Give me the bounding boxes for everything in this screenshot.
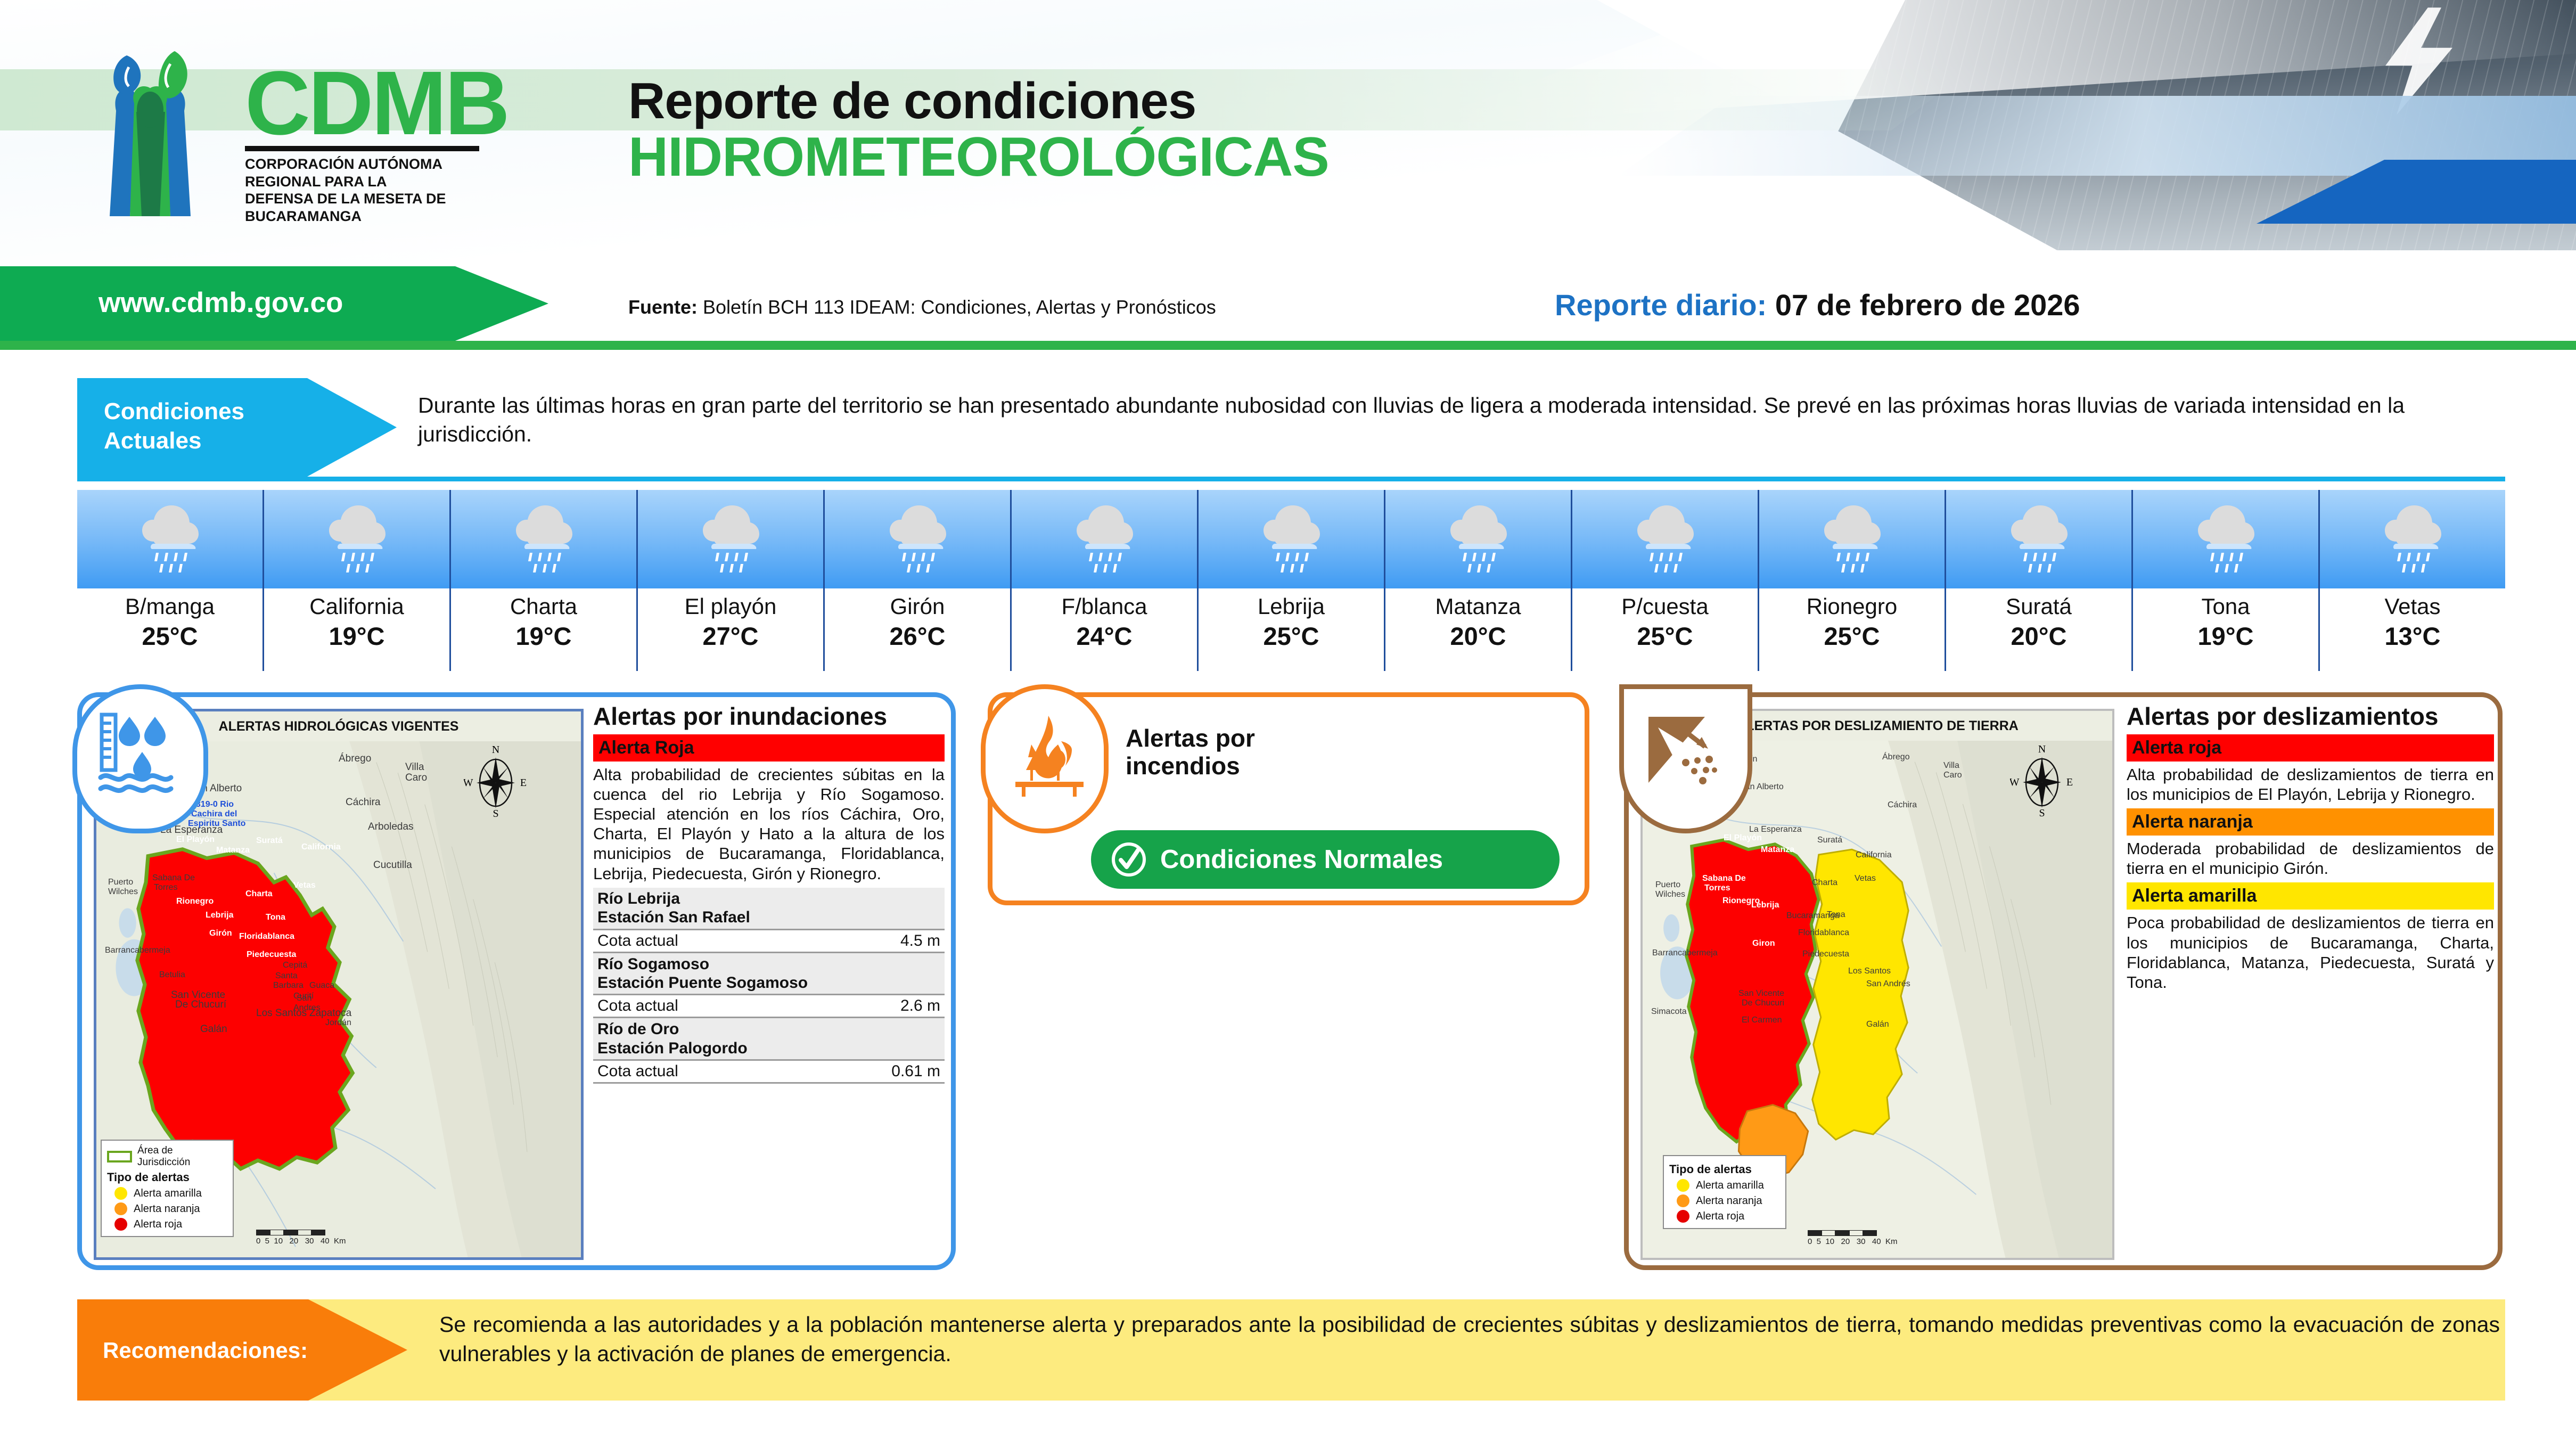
tag-line-2: Actuales <box>104 427 244 456</box>
map-town-label: Ábrego <box>1882 752 1910 762</box>
landslide-map-legend: Tipo de alertas Alerta amarilla Alerta n… <box>1663 1155 1786 1229</box>
source-note: Fuente: Boletín BCH 113 IDEAM: Condicion… <box>628 296 1216 318</box>
map-river-label: Espiritu Santo <box>188 819 245 829</box>
weather-municipality: F/blanca <box>1012 594 1197 619</box>
weather-temperature: 13°C <box>2320 621 2505 651</box>
svg-text:N: N <box>492 744 499 756</box>
landslide-map-scalebar: 0 5 10 20 30 40 Km <box>1808 1230 1897 1246</box>
title-line-1: Reporte de condiciones <box>628 75 1329 128</box>
current-conditions-underline <box>77 477 2505 481</box>
river-metric-value: 4.5 m <box>807 929 945 952</box>
weather-temperature: 24°C <box>1012 621 1197 651</box>
jurisdiction-swatch-icon <box>107 1151 132 1163</box>
river-station-cell: Río SogamosoEstación Puente Sogamoso <box>593 952 945 995</box>
map-town-label: Simacota <box>1651 1007 1687 1017</box>
report-page: CDMB CORPORACIÓN AUTÓNOMA REGIONAL PARA … <box>0 0 2576 1449</box>
map-town-label: Barrancabermeja <box>105 946 170 955</box>
map-town-label: California <box>301 842 341 852</box>
weather-temperature: 19°C <box>451 621 636 651</box>
table-row: Cota actual4.5 m <box>593 929 945 952</box>
weather-icon-box <box>1946 490 2131 588</box>
compass-rose-icon: N S E W <box>2010 744 2074 818</box>
fire-panel-heading: Alertas por incendios <box>1126 725 1255 780</box>
weather-cell: B/manga25°C <box>77 490 264 671</box>
hydro-map-scalebar: 0 5 10 20 30 40 Km <box>256 1230 346 1246</box>
scalebar-ticks: 0 5 10 20 30 40 Km <box>1808 1237 1897 1246</box>
svg-text:W: W <box>464 777 473 789</box>
weather-municipality: Rionegro <box>1759 594 1945 619</box>
weather-cell: Matanza20°C <box>1385 490 1572 671</box>
map-town-label: Suratá <box>256 836 283 846</box>
weather-municipality: California <box>264 594 449 619</box>
forest-fire-icon <box>1013 715 1086 804</box>
legend-area-label: Área de Jurisdicción <box>137 1145 226 1168</box>
legend-item-label: Alerta amarilla <box>1696 1180 1764 1192</box>
map-town-label: El Playón <box>176 835 215 845</box>
landslide-alert-text: Alta probabilidad de deslizamientos de t… <box>2127 765 2494 804</box>
map-town-label: Santa <box>275 971 298 981</box>
legend-swatch-yellow-icon <box>1677 1179 1689 1192</box>
table-row: Río de OroEstación Palogordo <box>593 1018 945 1060</box>
weather-municipality: El playón <box>638 594 823 619</box>
weather-cell: Suratá20°C <box>1946 490 2133 671</box>
rain-cloud-icon <box>138 502 202 577</box>
map-town-label: Wilches <box>1655 890 1685 899</box>
map-town-label: Piedecuesta <box>1802 949 1849 959</box>
rain-cloud-icon <box>1072 502 1136 577</box>
logo-subtitle-line1: CORPORACIÓN AUTÓNOMA REGIONAL PARA LA <box>245 155 495 191</box>
river-station-cell: Río LebrijaEstación San Rafael <box>593 888 945 929</box>
river-metric-label: Cota actual <box>593 1060 807 1083</box>
map-town-label: Caro <box>405 772 427 784</box>
landslide-alert-band: Alerta roja <box>2127 734 2494 762</box>
map-town-label: Los Santos <box>1848 967 1891 976</box>
map-town-label: Sabana De <box>1702 874 1746 883</box>
map-town-label: Betulia <box>159 970 185 980</box>
cdmb-logo[interactable]: CDMB CORPORACIÓN AUTÓNOMA REGIONAL PARA … <box>85 48 618 224</box>
fire-alert-card: Alertas por incendios Condiciones Normal… <box>988 692 1589 905</box>
fire-heading-line-1: Alertas por <box>1126 725 1255 752</box>
legend-item: Alerta naranja <box>107 1202 226 1215</box>
weather-temperature: 26°C <box>825 621 1010 651</box>
legend-item: Alerta amarilla <box>107 1187 226 1200</box>
map-town-label: San Vicente <box>1738 989 1784 998</box>
report-date-line: Reporte diario: 07 de febrero de 2026 <box>1555 288 2080 322</box>
weather-cell: California19°C <box>264 490 451 671</box>
legend-swatch-red-icon <box>1677 1210 1689 1223</box>
weather-municipality: Vetas <box>2320 594 2505 619</box>
weather-cell: Vetas13°C <box>2320 490 2505 671</box>
title-line-2: HIDROMETEOROLÓGICAS <box>628 128 1329 186</box>
website-url[interactable]: www.cdmb.gov.co <box>99 286 343 319</box>
source-text: Boletín BCH 113 IDEAM: Condiciones, Aler… <box>703 296 1216 318</box>
weather-icon-box <box>1385 490 1571 588</box>
map-town-label: Ábrego <box>339 753 371 765</box>
fire-heading-line-2: incendios <box>1126 752 1255 780</box>
flood-badge <box>72 684 208 833</box>
svg-text:E: E <box>520 777 527 789</box>
weather-municipality: Girón <box>825 594 1010 619</box>
legend-item-label: Alerta naranja <box>1696 1195 1762 1207</box>
current-conditions-tag: Condiciones Actuales <box>77 378 397 477</box>
current-conditions-tag-text: Condiciones Actuales <box>104 397 244 455</box>
map-town-label: Caro <box>1943 771 1962 780</box>
weather-municipality: Suratá <box>1946 594 2131 619</box>
source-label: Fuente: <box>628 296 698 318</box>
map-town-label: Barbara <box>273 981 303 990</box>
weather-strip: B/manga25°C California19°C Charta19°C El… <box>77 490 2505 671</box>
map-town-label: El Playón <box>1724 833 1762 843</box>
map-river-label: Cachira del <box>191 809 237 819</box>
legend-item: Alerta naranja <box>1669 1194 1779 1207</box>
weather-municipality: Charta <box>451 594 636 619</box>
legend-item: Alerta roja <box>1669 1210 1779 1223</box>
map-town-label: Sabana De <box>152 873 195 883</box>
map-town-label: Torres <box>1704 883 1730 893</box>
river-metric-value: 0.61 m <box>807 1060 945 1083</box>
report-date-value: 07 de febrero de 2026 <box>1775 288 2080 322</box>
map-town-label: Villa <box>1943 761 1959 771</box>
weather-municipality: P/cuesta <box>1572 594 1758 619</box>
map-town-label: De Chucuri <box>1742 998 1784 1008</box>
weather-icon-box <box>1012 490 1197 588</box>
alert-panels-row: ALERTAS HIDROLÓGICAS VIGENTES <box>0 687 2576 1278</box>
rain-cloud-icon <box>512 502 576 577</box>
water-level-gauge-icon <box>97 711 175 799</box>
map-town-label: Galán <box>1866 1020 1889 1029</box>
map-town-label: Andres <box>293 1003 321 1013</box>
rain-cloud-icon <box>699 502 762 577</box>
map-town-label: Floridablanca <box>239 932 294 942</box>
current-conditions-section: Condiciones Actuales Durante las últimas… <box>77 378 2505 477</box>
weather-icon-box <box>2133 490 2318 588</box>
map-town-label: Piedecuesta <box>247 950 296 960</box>
rain-cloud-icon <box>1633 502 1697 577</box>
weather-cell: F/blanca24°C <box>1012 490 1199 671</box>
flood-panel-heading: Alertas por inundaciones <box>593 703 945 730</box>
hydro-map-legend: Área de Jurisdicción Tipo de alertas Ale… <box>101 1140 234 1237</box>
river-levels-table: Río LebrijaEstación San RafaelCota actua… <box>593 888 945 1084</box>
legend-area-row: Área de Jurisdicción <box>107 1145 226 1168</box>
weather-municipality: Lebrija <box>1199 594 1384 619</box>
rain-cloud-icon <box>1259 502 1323 577</box>
map-town-label: Matanza <box>216 846 250 855</box>
weather-cell: P/cuesta25°C <box>1572 490 1759 671</box>
weather-icon-box <box>1759 490 1945 588</box>
landslide-alert-card: ALERTAS POR DESLIZAMIENTO DE TIERRA <box>1624 692 2503 1270</box>
landslide-alert-list: Alerta rojaAlta probabilidad de deslizam… <box>2127 734 2494 993</box>
svg-text:S: S <box>493 808 498 819</box>
weather-temperature: 25°C <box>1572 621 1758 651</box>
weather-cell: Charta19°C <box>451 490 638 671</box>
legend-item-label: Alerta naranja <box>134 1203 200 1215</box>
legend-swatch-red-icon <box>114 1218 127 1231</box>
recommendations-text: Se recomienda a las autoridades y a la p… <box>439 1310 2500 1369</box>
landslide-alert-text: Moderada probabilidad de deslizamientos … <box>2127 839 2494 878</box>
map-town-label: Wilches <box>108 887 138 897</box>
map-town-label: San Andrés <box>1866 979 1910 989</box>
flood-alert-text: Alta probabilidad de crecientes súbitas … <box>593 765 945 883</box>
map-town-label: Barrancabermeja <box>1652 948 1718 958</box>
map-town-label: Charta <box>245 889 273 899</box>
legend-item-label: Alerta roja <box>134 1218 182 1231</box>
green-rule <box>0 341 2576 350</box>
weather-temperature: 25°C <box>1199 621 1384 651</box>
map-town-label: San <box>297 994 311 1003</box>
logo-name: CDMB <box>245 64 508 144</box>
flood-alert-info: Alertas por inundaciones Alerta Roja Alt… <box>593 703 945 1084</box>
logo-subtitle: CORPORACIÓN AUTÓNOMA REGIONAL PARA LA DE… <box>245 155 495 226</box>
table-row: Cota actual0.61 m <box>593 1060 945 1083</box>
weather-temperature: 20°C <box>1385 621 1571 651</box>
map-town-label: Galán <box>200 1024 227 1035</box>
weather-cell: El playón27°C <box>638 490 825 671</box>
map-town-label: Rionegro <box>176 897 214 906</box>
weather-municipality: B/manga <box>77 594 262 619</box>
fire-badge <box>981 684 1109 833</box>
weather-temperature: 20°C <box>1946 621 2131 651</box>
legend-item: Alerta amarilla <box>1669 1179 1779 1192</box>
map-town-label: Cáchira <box>1888 800 1917 810</box>
weather-temperature: 19°C <box>2133 621 2318 651</box>
fire-status-pill: Condiciones Normales <box>1091 830 1560 889</box>
landslide-badge <box>1619 684 1752 833</box>
rain-cloud-icon <box>885 502 949 577</box>
legend-title: Tipo de alertas <box>107 1170 226 1184</box>
landslide-panel-heading: Alertas por deslizamientos <box>2127 703 2494 730</box>
svg-text:N: N <box>2038 744 2046 755</box>
flood-alert-band: Alerta Roja <box>593 734 945 762</box>
map-town-label: El Carmen <box>1742 1016 1782 1025</box>
logo-wordmark: CDMB CORPORACIÓN AUTÓNOMA REGIONAL PARA … <box>245 64 508 225</box>
table-row: Cota actual2.6 m <box>593 995 945 1018</box>
rain-cloud-icon <box>1446 502 1510 577</box>
map-town-label: Jordán <box>325 1018 351 1028</box>
map-town-label: Vetas <box>1855 874 1876 883</box>
map-town-label: Charta <box>1812 878 1837 888</box>
table-row: Río SogamosoEstación Puente Sogamoso <box>593 952 945 995</box>
rain-cloud-icon <box>1820 502 1884 577</box>
map-town-label: Arboledas <box>368 821 414 833</box>
scalebar-segments <box>1808 1230 1897 1236</box>
recommendations-tag-label: Recomendaciones: <box>103 1338 308 1363</box>
legend-item-label: Alerta amarilla <box>134 1188 202 1200</box>
map-town-label: Guaca <box>309 981 334 990</box>
weather-temperature: 19°C <box>264 621 449 651</box>
svg-text:E: E <box>2066 776 2073 788</box>
weather-cell: Lebrija25°C <box>1199 490 1385 671</box>
scalebar-segments <box>256 1230 346 1235</box>
logo-subtitle-line2: DEFENSA DE LA MESETA DE BUCARAMANGA <box>245 190 495 225</box>
rain-cloud-icon <box>325 502 389 577</box>
landslide-alert-band: Alerta amarilla <box>2127 882 2494 910</box>
weather-cell: Girón26°C <box>825 490 1012 671</box>
flood-alert-card: ALERTAS HIDROLÓGICAS VIGENTES <box>77 692 956 1270</box>
map-town-label: Cáchira <box>346 797 380 808</box>
landslide-alert-info: Alertas por deslizamientos Alerta rojaAl… <box>2127 703 2494 992</box>
rain-cloud-icon <box>2381 502 2444 577</box>
weather-icon-box <box>77 490 262 588</box>
map-town-label: California <box>1856 850 1892 860</box>
map-town-label: Puerto <box>1655 880 1680 890</box>
weather-icon-box <box>2320 490 2505 588</box>
weather-temperature: 25°C <box>77 621 262 651</box>
map-town-label: De Chucurí <box>175 999 226 1011</box>
map-town-label: Vetas <box>293 881 316 890</box>
map-town-label: Cucutilla <box>373 859 412 871</box>
legend-swatch-orange-icon <box>1677 1194 1689 1207</box>
report-date-label: Reporte diario: <box>1555 288 1767 322</box>
weather-temperature: 27°C <box>638 621 823 651</box>
map-town-label: Torres <box>154 883 177 893</box>
weather-temperature: 25°C <box>1759 621 1945 651</box>
landslide-alert-band: Alerta naranja <box>2127 808 2494 836</box>
legend-title: Tipo de alertas <box>1669 1163 1779 1176</box>
weather-icon-box <box>825 490 1010 588</box>
weather-municipality: Matanza <box>1385 594 1571 619</box>
map-town-label: Floridablanca <box>1798 928 1849 938</box>
river-metric-value: 2.6 m <box>807 995 945 1018</box>
landslide-alert-text: Poca probabilidad de deslizamientos de t… <box>2127 913 2494 992</box>
weather-cell: Rionegro25°C <box>1759 490 1946 671</box>
weather-icon-box <box>451 490 636 588</box>
map-town-label: Girón <box>209 929 232 938</box>
tag-line-1: Condiciones <box>104 397 244 427</box>
check-circle-icon <box>1109 840 1148 879</box>
river-station-cell: Río de OroEstación Palogordo <box>593 1018 945 1060</box>
svg-text:S: S <box>2039 807 2045 818</box>
map-town-label: Lebrija <box>206 911 233 920</box>
legend-swatch-orange-icon <box>114 1202 127 1215</box>
cdmb-logo-mark-icon <box>85 48 234 224</box>
map-town-label: Matanza <box>1761 845 1794 855</box>
weather-municipality: Tona <box>2133 594 2318 619</box>
page-header: CDMB CORPORACIÓN AUTÓNOMA REGIONAL PARA … <box>0 0 2576 266</box>
river-metric-label: Cota actual <box>593 929 807 952</box>
page-title: Reporte de condiciones HIDROMETEOROLÓGIC… <box>628 75 1329 186</box>
river-metric-label: Cota actual <box>593 995 807 1018</box>
legend-item-label: Alerta roja <box>1696 1210 1744 1223</box>
recommendations-section: Recomendaciones: Se recomienda a las aut… <box>77 1299 2505 1401</box>
rain-cloud-icon <box>2007 502 2071 577</box>
weather-icon-box <box>638 490 823 588</box>
rain-cloud-icon <box>2194 502 2258 577</box>
map-town-label: Puerto <box>108 878 133 887</box>
map-town-label: Suratá <box>1817 836 1842 845</box>
map-town-label: Cepitá <box>283 961 307 970</box>
map-town-label: Tona <box>266 913 285 922</box>
scalebar-ticks: 0 5 10 20 30 40 Km <box>256 1237 346 1246</box>
weather-icon-box <box>1572 490 1758 588</box>
map-town-label: Villa <box>405 762 424 773</box>
landslide-icon <box>1645 714 1725 799</box>
map-town-label: Rionegro <box>1722 896 1760 906</box>
weather-icon-box <box>1199 490 1384 588</box>
map-town-label: Bucaramanga <box>1786 911 1840 921</box>
legend-swatch-yellow-icon <box>114 1187 127 1200</box>
current-conditions-text: Durante las últimas horas en gran parte … <box>418 391 2495 448</box>
legend-item: Alerta roja <box>107 1218 226 1231</box>
svg-text:W: W <box>2010 776 2020 788</box>
fire-status-label: Condiciones Normales <box>1160 845 1443 874</box>
compass-rose-icon: N S E W <box>464 744 528 819</box>
map-town-label: Giron <box>1752 939 1775 948</box>
website-date-bar: www.cdmb.gov.co Fuente: Boletín BCH 113 … <box>0 266 2576 351</box>
table-row: Río LebrijaEstación San Rafael <box>593 888 945 929</box>
weather-icon-box <box>264 490 449 588</box>
weather-cell: Tona19°C <box>2133 490 2320 671</box>
